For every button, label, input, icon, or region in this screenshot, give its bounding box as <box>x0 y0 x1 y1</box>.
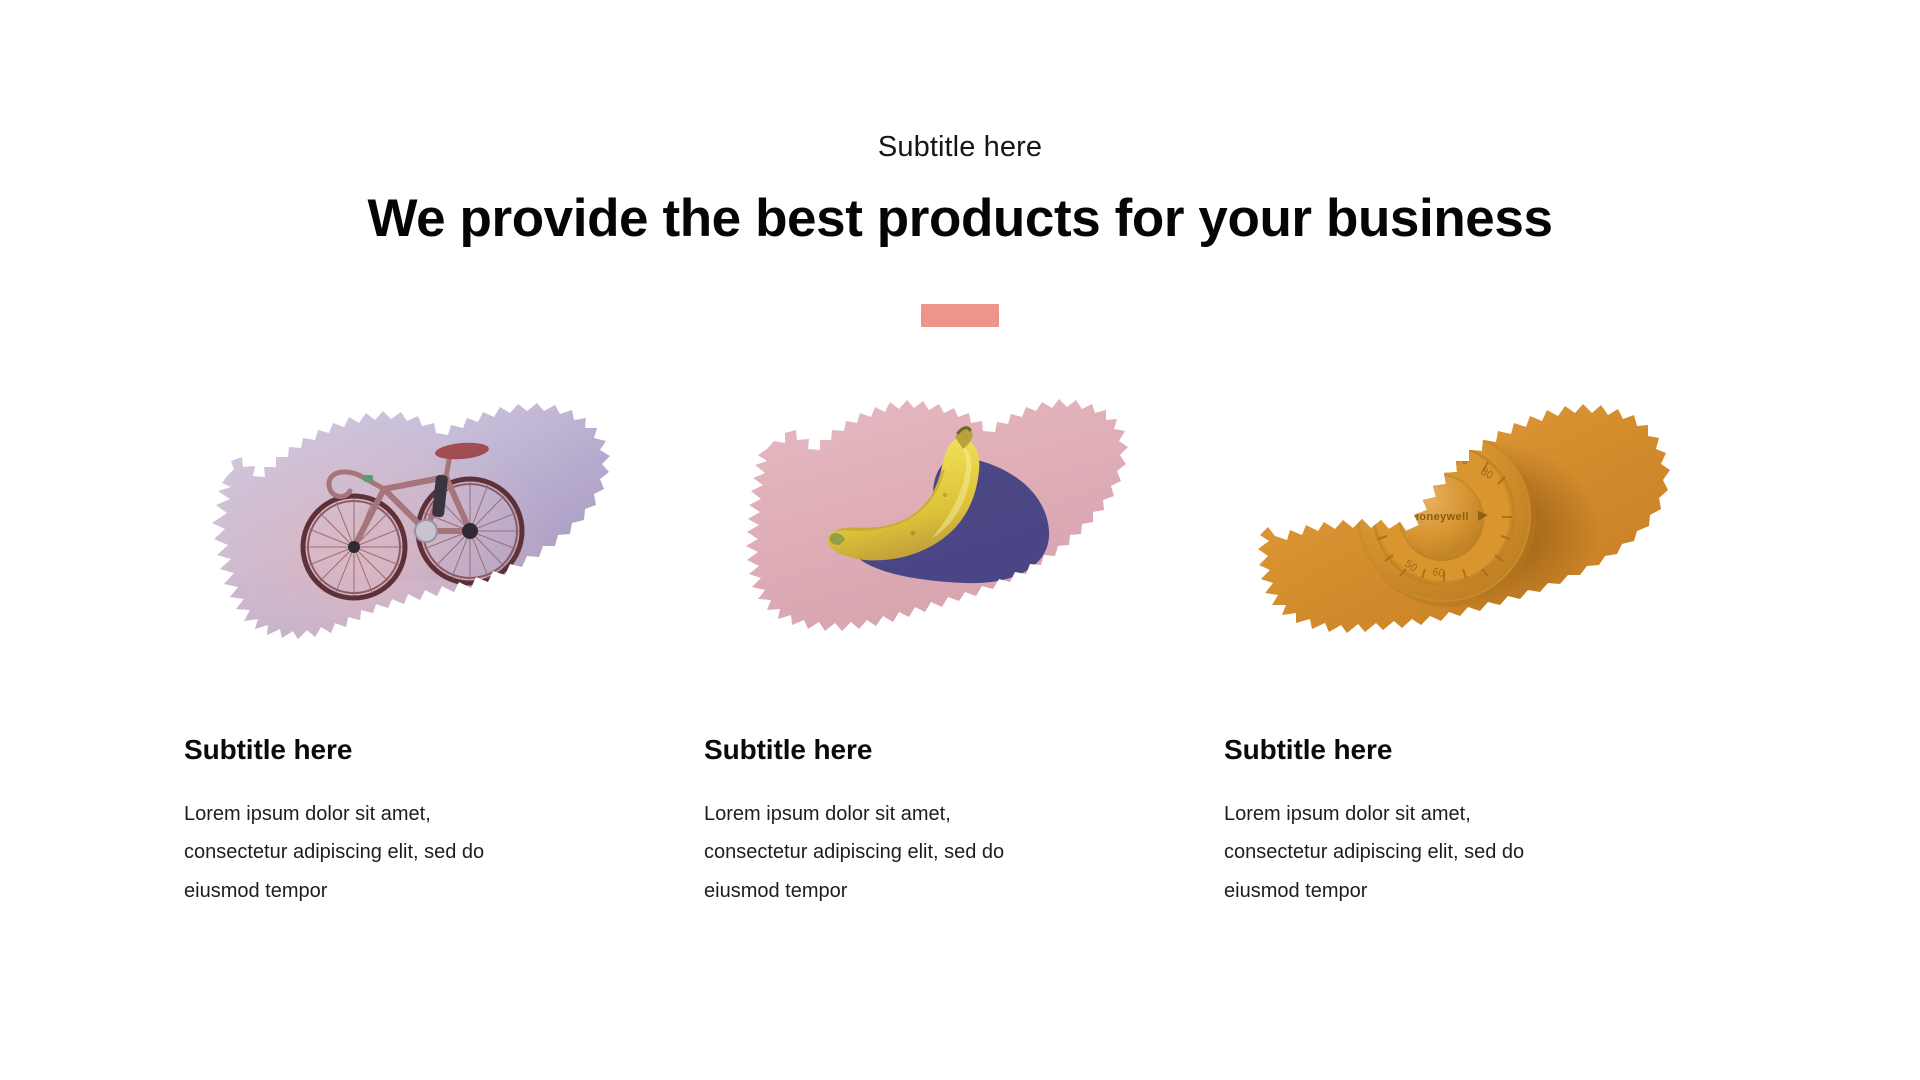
card-title: Subtitle here <box>700 733 872 767</box>
product-card-1[interactable]: Subtitle here Lorem ipsum dolor sit amet… <box>180 379 700 910</box>
dial-tick-label: 50 <box>1392 461 1409 478</box>
card-title: Subtitle here <box>180 733 352 767</box>
header-eyebrow: Subtitle here <box>0 130 1920 165</box>
card-body-text: Lorem ipsum dolor sit amet, consectetur … <box>180 795 530 910</box>
product-card-2[interactable]: Subtitle here Lorem ipsum dolor sit amet… <box>700 379 1220 910</box>
thermostat-brand-label: Honeywell <box>1411 511 1469 523</box>
banana-photo <box>727 379 1147 669</box>
card-title: Subtitle here <box>1220 733 1392 767</box>
slide-root: Subtitle here We provide the best produc… <box>0 0 1920 1080</box>
header-block: Subtitle here We provide the best produc… <box>0 0 1920 327</box>
bicycle-photo <box>198 379 618 669</box>
card-body-text: Lorem ipsum dolor sit amet, consectetur … <box>1220 795 1570 910</box>
dial-tick-label: 60 <box>1431 566 1445 580</box>
card-body-text: Lorem ipsum dolor sit amet, consectetur … <box>700 795 1050 910</box>
page-title: We provide the best products for your bu… <box>0 188 1920 251</box>
product-card-3[interactable]: 50 60 70 80 50 60 Honeywell <box>1220 379 1740 910</box>
dial-tick-label: 70 <box>1454 454 1468 468</box>
product-cards-row: Subtitle here Lorem ipsum dolor sit amet… <box>0 379 1920 910</box>
thermostat-photo: 50 60 70 80 50 60 Honeywell <box>1252 379 1672 669</box>
dial-tick-label: 60 <box>1421 450 1437 466</box>
accent-divider-bar <box>921 304 999 327</box>
